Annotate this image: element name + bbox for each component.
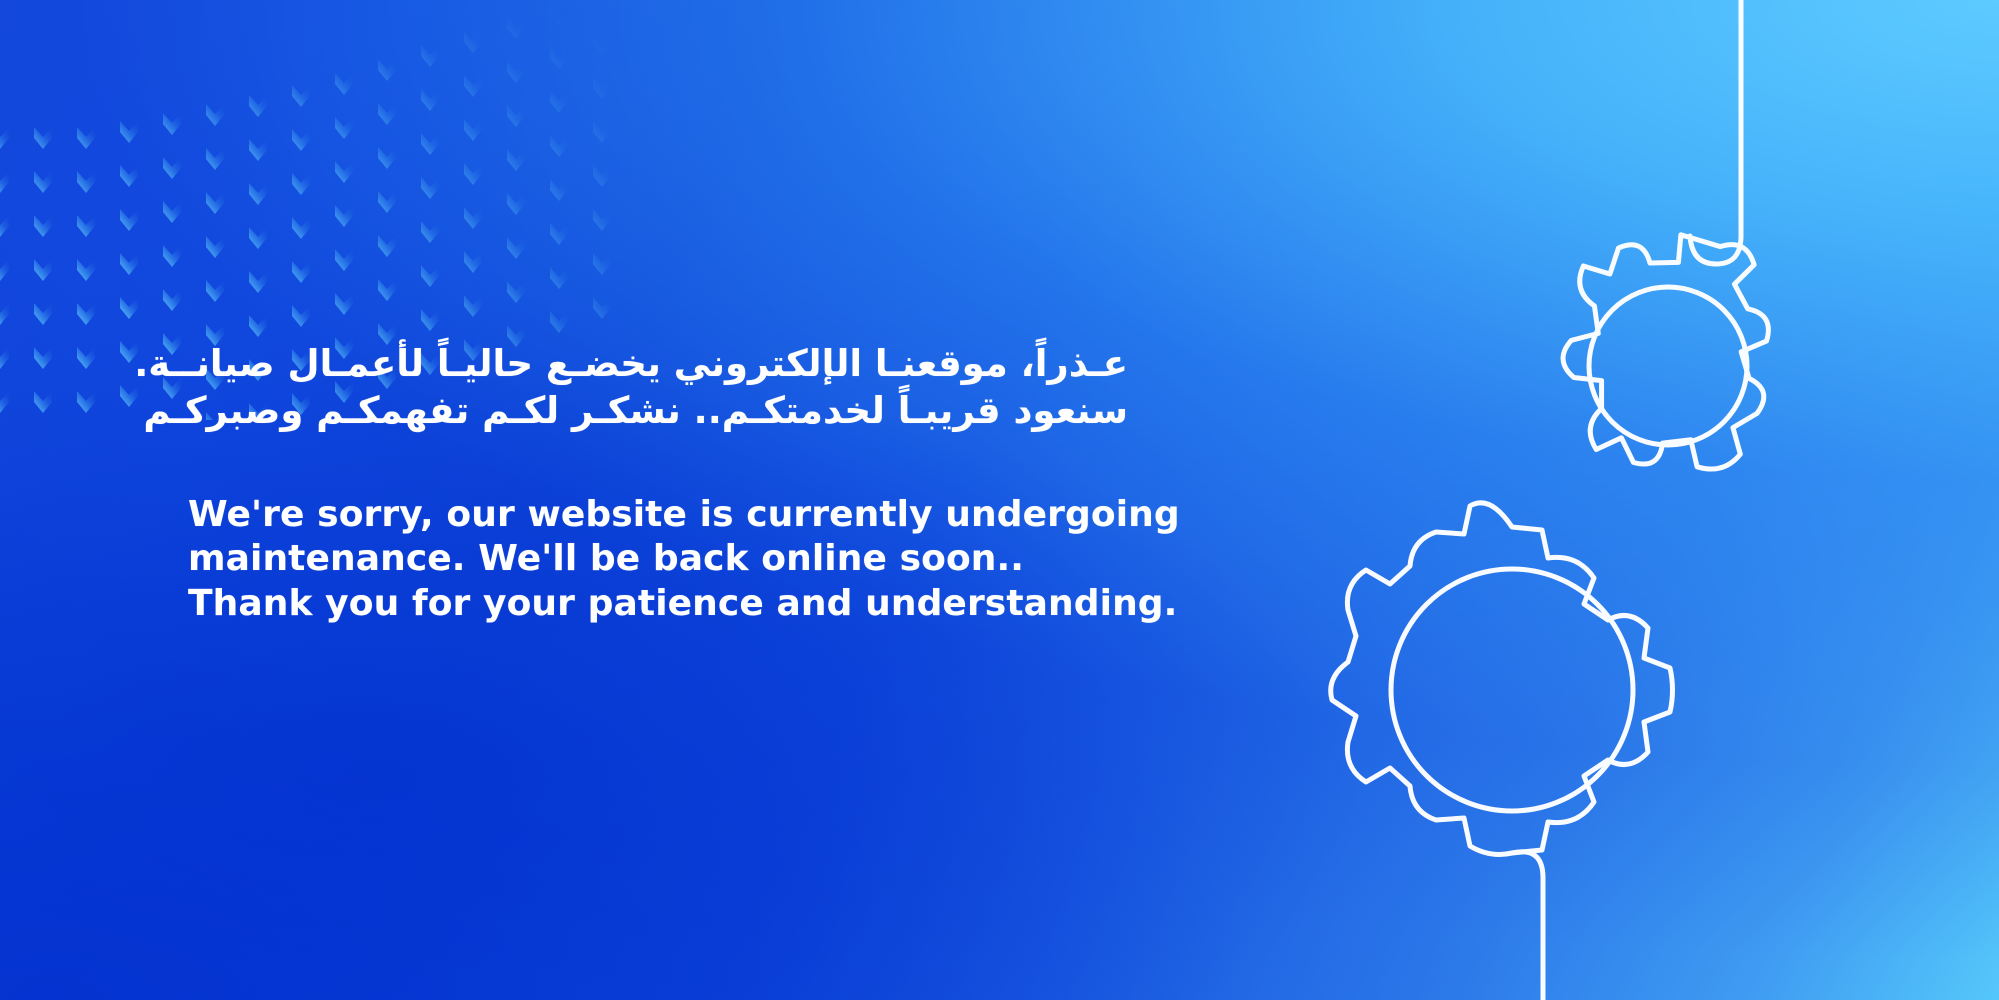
english-message: We're sorry, our website is currently un… xyxy=(188,493,1148,627)
english-line-3: Thank you for your patience and understa… xyxy=(188,582,1148,627)
arabic-message: عـذراً، موقعنـا الإلكتروني يخضـع حاليـاً… xyxy=(188,340,1128,435)
arabic-line-1: عـذراً، موقعنـا الإلكتروني يخضـع حاليـاً… xyxy=(188,340,1128,387)
arabic-line-2: سنعود قريبـاً لخدمتكـم.. نشكـر لكـم تفهم… xyxy=(188,387,1128,434)
maintenance-page: عـذراً، موقعنـا الإلكتروني يخضـع حاليـاً… xyxy=(0,0,1999,1000)
message-block: عـذراً، موقعنـا الإلكتروني يخضـع حاليـاً… xyxy=(188,340,1148,627)
english-line-1: We're sorry, our website is currently un… xyxy=(188,493,1148,538)
english-line-2: maintenance. We'll be back online soon.. xyxy=(188,537,1148,582)
